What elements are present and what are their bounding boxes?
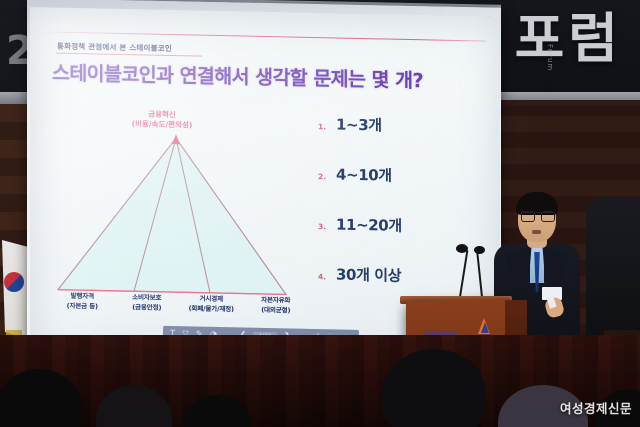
- answer-number: 4.: [318, 272, 336, 281]
- answer-number: 2.: [318, 172, 336, 181]
- diagram-base-item: 소비자보호 (금융안정): [115, 293, 180, 314]
- answer-item: 2. 4~10개: [318, 163, 493, 217]
- press-watermark: 여성경제신문: [560, 398, 632, 417]
- podium-emblem-blue-icon: [481, 322, 489, 333]
- diagram-base-item-detail: (금융안정): [115, 303, 180, 314]
- slide-title: 스테이블코인과 연결해서 생각할 문제는 몇 개?: [52, 57, 423, 94]
- diagram-base-item-detail: (자본금 등): [50, 301, 115, 312]
- speaker-mouth: [532, 230, 541, 234]
- diagram-base-item-detail: (대외균형): [244, 305, 309, 316]
- answer-number: 3.: [318, 222, 336, 231]
- slide-top-rule: [50, 31, 486, 42]
- diagram-base-item: 자본자유화 (대외균형): [244, 296, 309, 317]
- answer-text: 11~20개: [336, 213, 402, 235]
- microphone-icon-right: [474, 246, 485, 254]
- diagram-base-item-detail: (화폐/물가/재정): [179, 304, 244, 315]
- answer-text: 4~10개: [336, 163, 392, 185]
- answer-text: 30개 이상: [336, 263, 401, 285]
- answer-item: 1. 1~3개: [318, 113, 493, 167]
- microphone-icon-left: [456, 244, 468, 253]
- eyeglasses-bridge-icon: [521, 212, 553, 221]
- answer-list: 1. 1~3개 2. 4~10개 3. 11~20개 4. 30개 이상: [318, 113, 493, 317]
- backdrop-side-text: Forum: [546, 44, 554, 71]
- diagram-base-item: 거시경제 (화폐/물가/재정): [179, 294, 244, 315]
- diagram-apex-label: 금융혁신 (비용/속도/편의성): [102, 109, 222, 132]
- triangle-diagram-svg: [50, 129, 300, 302]
- slide-kicker-underline: [56, 53, 202, 57]
- answer-text: 1~3개: [336, 113, 382, 135]
- triangle-diagram: 금융혁신 (비용/속도/편의성) 발행자격 (자본금 등): [50, 107, 300, 312]
- diagram-base-item: 발행자격 (자본금 등): [50, 291, 115, 312]
- answer-number: 1.: [318, 122, 336, 131]
- diagram-base-labels: 발행자격 (자본금 등) 소비자보호 (금융안정) 거시경제 (화폐/물가/재정…: [50, 291, 308, 316]
- diagram-apex-label-line2: (비용/속도/편의성): [102, 119, 222, 132]
- screenshot-root: 20 포럼 Forum 통화정책 관점에서 본 스테이블코인 스테이블코인과 연…: [0, 0, 640, 427]
- backdrop-title-text: 포럼: [515, 0, 622, 73]
- flag-taegeuk-icon: [4, 272, 24, 292]
